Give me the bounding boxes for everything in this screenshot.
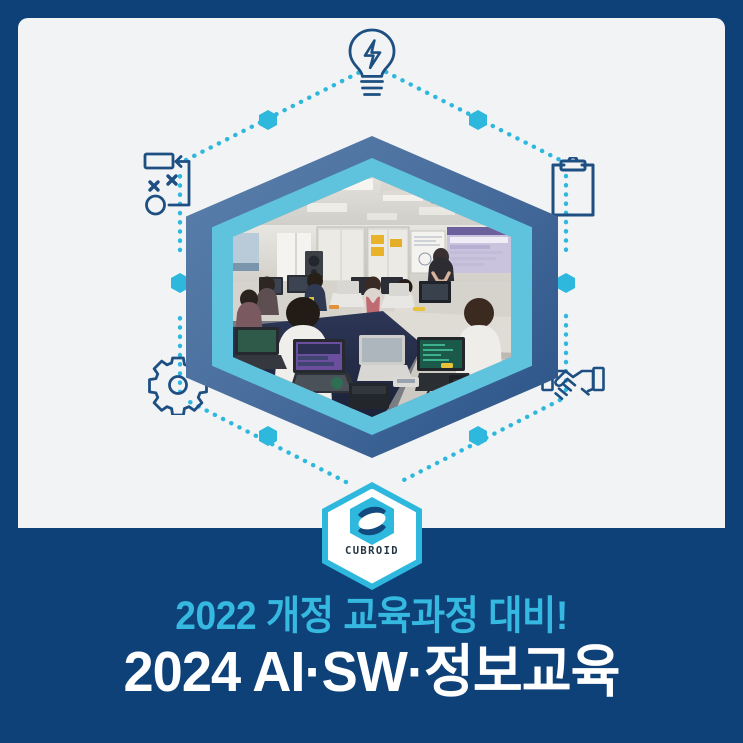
promotional-poster: CUBROID 2022 개정 교육과정 대비! 2024 AI·SW·정보교육 — [0, 0, 743, 743]
headline-title: 2024 AI·SW·정보교육 — [19, 644, 725, 701]
brand-name: CUBROID — [322, 545, 422, 557]
cubroid-mark-icon — [348, 496, 396, 546]
headline-eyebrow: 2022 개정 교육과정 대비! — [26, 596, 717, 636]
lightbulb-icon — [342, 26, 402, 102]
hero-hexagon — [186, 136, 558, 458]
headline-block: 2022 개정 교육과정 대비! 2024 AI·SW·정보교육 — [0, 596, 743, 701]
cubroid-logo-badge: CUBROID — [322, 482, 422, 590]
